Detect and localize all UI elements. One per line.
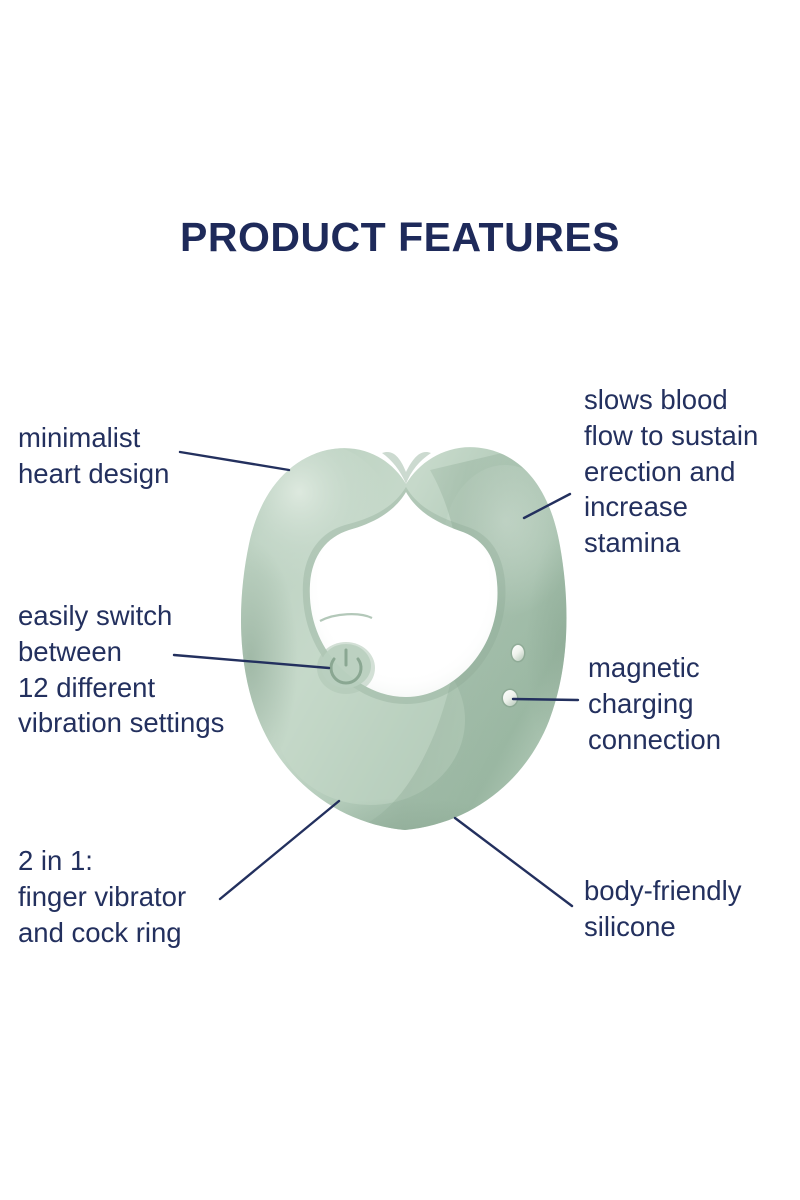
feature-label-magnetic: magnetic charging connection — [588, 650, 721, 757]
seam-line — [320, 614, 372, 621]
product-body — [202, 430, 606, 894]
charging-pins — [502, 644, 526, 708]
feature-label-easily-switch: easily switch between 12 different vibra… — [18, 598, 224, 741]
power-icon — [331, 650, 361, 683]
leader-line-body-friendly — [455, 818, 572, 906]
feature-label-minimalist: minimalist heart design — [18, 420, 169, 492]
product-center-opening — [303, 487, 506, 704]
charging-pin-lower — [503, 690, 517, 706]
feature-label-body-friendly: body-friendly silicone — [584, 873, 741, 945]
leader-line-minimalist — [180, 452, 289, 470]
page-title: PRODUCT FEATURES — [0, 214, 800, 261]
leader-line-magnetic — [513, 699, 578, 700]
leader-line-two-in-one — [220, 801, 339, 899]
heart-cleft-shadow — [382, 452, 431, 484]
product-features-page: PRODUCT FEATURES — [0, 0, 800, 1200]
leader-line-slows-blood — [524, 494, 570, 518]
feature-label-two-in-one: 2 in 1: finger vibrator and cock ring — [18, 843, 186, 950]
feature-label-slows-blood: slows blood flow to sustain erection and… — [584, 382, 758, 561]
power-button[interactable] — [317, 642, 375, 694]
charging-pin-upper — [512, 645, 524, 661]
